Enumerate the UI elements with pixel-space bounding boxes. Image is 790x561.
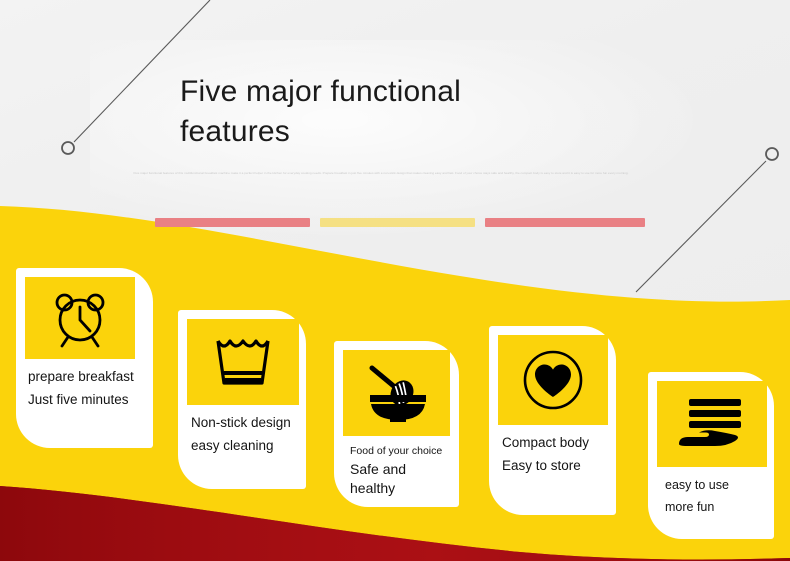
card-icon-panel [498, 335, 608, 425]
card-line: more fun [665, 497, 770, 519]
card-line-kicker: Food of your choice [350, 444, 455, 460]
accent-bar-left [155, 218, 310, 227]
card-text-block: Non-stick design easy cleaning [187, 405, 306, 457]
card-line: healthy [350, 479, 455, 498]
feature-card-prepare-breakfast[interactable]: prepare breakfast Just five minutes [16, 268, 153, 448]
feature-card-compact-body[interactable]: Compact body Easy to store [489, 326, 616, 515]
card-line: easy cleaning [191, 434, 302, 457]
page-title: Five major functional features [180, 72, 610, 152]
card-line: Compact body [502, 431, 612, 454]
card-icon-panel [25, 277, 135, 359]
card-text-block: Food of your choice Safe and healthy [343, 436, 459, 498]
wash-bucket-icon [210, 331, 276, 393]
card-line: prepare breakfast [28, 365, 149, 388]
card-text-block: prepare breakfast Just five minutes [25, 359, 153, 411]
card-line: easy to use [665, 475, 770, 497]
card-line: Easy to store [502, 454, 612, 477]
feature-card-non-stick-design[interactable]: Non-stick design easy cleaning [178, 310, 306, 489]
card-icon-panel [343, 350, 450, 436]
accent-bar-middle [320, 218, 475, 227]
subtitle-paragraph: Five major functional features of this m… [108, 170, 654, 196]
accent-bar-right [485, 218, 645, 227]
accent-bars [155, 218, 645, 227]
promo-banner: Five major functional features Five majo… [0, 0, 790, 561]
bowl-whisk-icon [360, 362, 434, 424]
alarm-clock-icon [47, 287, 113, 349]
card-text-block: Compact body Easy to store [498, 425, 616, 477]
card-line: Just five minutes [28, 388, 149, 411]
card-icon-panel [187, 319, 299, 405]
feature-card-safe-and-healthy[interactable]: Food of your choice Safe and healthy [334, 341, 459, 507]
hand-stack-icon [675, 396, 749, 452]
heart-circle-icon [519, 346, 587, 414]
card-line: Safe and [350, 460, 455, 479]
feature-card-easy-to-use[interactable]: easy to use more fun [648, 372, 774, 539]
card-line: Non-stick design [191, 411, 302, 434]
card-icon-panel [657, 381, 767, 467]
card-text-block: easy to use more fun [657, 467, 774, 518]
